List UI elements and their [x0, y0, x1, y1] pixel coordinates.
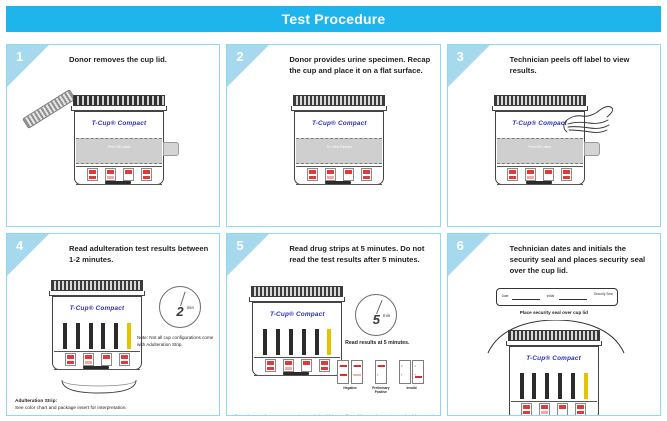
- cup-illustration-4: T-Cup® Compact: [47, 280, 149, 372]
- cup-body: T-Cup® Compact: [52, 296, 142, 370]
- cup-divider: [54, 369, 140, 370]
- peel-tab: [163, 142, 179, 156]
- drug-strip: [532, 373, 536, 399]
- drug-strips: [263, 329, 331, 355]
- test-strip: C T: [399, 360, 411, 384]
- drug-strips: [63, 323, 131, 349]
- pad: [141, 168, 152, 181]
- peel-off-label-text: Peel Off Label: [76, 145, 162, 150]
- step-panel-1: 1 Donor removes the cup lid. T-Cup® Comp…: [6, 44, 220, 227]
- corner-triangle-6: [448, 234, 490, 276]
- adulteration-footnote: Adulteration Strip: See color chart and …: [15, 398, 220, 413]
- step-text-4: Read adulteration test results between 1…: [69, 243, 211, 265]
- step-panel-6: 6 Technician dates and initials the secu…: [447, 233, 661, 416]
- cup-lid-icon: [508, 330, 600, 341]
- step-text-6: Technician dates and initials the securi…: [510, 243, 652, 276]
- drug-strips: [520, 373, 588, 399]
- seal-caption: Place security seal over cup lid: [448, 310, 660, 315]
- pad: [265, 359, 276, 372]
- drug-strip: [315, 329, 319, 355]
- cup-divider: [76, 166, 162, 167]
- pad: [561, 168, 572, 181]
- cup-lid-icon: [251, 286, 343, 297]
- pad: [319, 359, 330, 372]
- pad: [539, 403, 550, 416]
- pad: [105, 168, 116, 181]
- pad: [123, 168, 134, 181]
- cup-body: T-Cup® Compact: [509, 346, 599, 416]
- legend-item-preliminary-positive: C T Preliminary Positive: [368, 360, 394, 395]
- cup-divider: [54, 351, 140, 352]
- pad: [507, 168, 518, 181]
- adulteration-pads: [510, 403, 598, 416]
- cup-divider: [497, 184, 583, 185]
- hand-icon: [560, 99, 616, 143]
- control-line: [378, 365, 385, 367]
- control-mark: C: [414, 365, 416, 368]
- test-mark: T: [401, 374, 402, 377]
- corner-triangle-1: [7, 45, 49, 87]
- step-panel-2: 2 Donor provides urine specimen. Recap t…: [226, 44, 440, 227]
- step-art-6: Date Initial Security Seal Place securit…: [448, 274, 660, 415]
- cup-brand-label: T-Cup® Compact: [253, 311, 341, 318]
- corner-triangle-5: [227, 234, 269, 276]
- legend-strips: C T C T: [337, 360, 363, 384]
- pad: [283, 359, 294, 372]
- peel-off-label: Peel Off Label: [76, 138, 162, 164]
- adulteration-note: Note: Not all cup configurations come wi…: [137, 334, 215, 348]
- timer-icon-2min: 2 min: [159, 286, 201, 328]
- seal-initial-label: Initial: [547, 294, 554, 298]
- cup-divider: [254, 375, 340, 376]
- step-text-3: Technician peels off label to view resul…: [510, 54, 652, 76]
- seal-initial-line: [559, 299, 587, 300]
- control-line: [354, 365, 361, 367]
- cup-body: T-Cup® Compact: [252, 302, 342, 376]
- pad: [521, 403, 532, 416]
- control-line: [340, 365, 347, 367]
- pad: [101, 353, 112, 366]
- removed-cup-lid-icon: [22, 89, 76, 129]
- pad: [65, 353, 76, 366]
- peel-off-label-text: Peel Off Label: [497, 145, 583, 150]
- test-line: [354, 374, 361, 376]
- timer-value: 5: [355, 312, 397, 327]
- legend-strips: C T: [375, 360, 387, 384]
- drug-strip: [289, 329, 293, 355]
- peel-tab: [584, 142, 600, 156]
- cup-illustration-6: T-Cup® Compact: [504, 330, 606, 416]
- pad: [557, 403, 568, 416]
- test-line: [340, 374, 347, 376]
- adulteration-strip: [127, 323, 131, 349]
- steps-grid: 1 Donor removes the cup lid. T-Cup® Comp…: [6, 44, 661, 416]
- step-art-1: T-Cup® Compact Peel Off Label: [7, 85, 219, 226]
- cup-divider: [497, 166, 583, 167]
- timer-caption: Read results at 5 minutes.: [337, 340, 417, 348]
- drug-strip: [63, 323, 67, 349]
- seal-security-label: Security Seal: [594, 292, 613, 297]
- seal-date-line: [512, 299, 540, 300]
- step-panel-4: 4 Read adulteration test results between…: [6, 233, 220, 416]
- step-art-3: T-Cup® Compact Peel Off Label: [448, 85, 660, 226]
- legend-label: Invalid: [407, 386, 417, 390]
- step-art-4: T-Cup® Compact: [7, 274, 219, 415]
- timer-unit: min: [187, 305, 194, 310]
- cup-lid-icon: [51, 280, 143, 291]
- seal-date-label: Date: [502, 294, 509, 298]
- page-title: Test Procedure: [282, 11, 386, 27]
- cup-illustration-2: T-Cup® Compact To View Results: [289, 95, 391, 187]
- step-number-1: 1: [16, 49, 23, 64]
- drug-strip: [276, 329, 280, 355]
- pad: [325, 168, 336, 181]
- test-line: [415, 376, 422, 378]
- legend-label: Negative: [343, 386, 356, 390]
- legend-item-negative: C T C T Negati: [337, 360, 363, 390]
- step-number-2: 2: [236, 49, 243, 64]
- cup-lid-icon: [293, 95, 385, 106]
- legend-item-invalid: C T C T Invalid: [399, 360, 425, 390]
- timer-value: 2: [159, 304, 201, 319]
- drug-strip: [101, 323, 105, 349]
- drug-strip: [545, 373, 549, 399]
- step-number-6: 6: [457, 238, 464, 253]
- adulteration-footnote-body: See color chart and package insert for i…: [15, 406, 127, 411]
- pad: [525, 168, 536, 181]
- step-art-2: T-Cup® Compact To View Results: [227, 85, 439, 226]
- adulteration-footnote-title: Adulteration Strip:: [15, 399, 57, 404]
- cup-lid-icon: [73, 95, 165, 106]
- step-panel-5: 5 Read drug strips at 5 minutes. Do not …: [226, 233, 440, 416]
- corner-triangle-3: [448, 45, 490, 87]
- presumptive-footnote: All positive results are presumptive and…: [231, 414, 440, 416]
- pad: [87, 168, 98, 181]
- cup-illustration-5: T-Cup® Compact: [247, 286, 349, 378]
- pad: [543, 168, 554, 181]
- step-number-3: 3: [457, 49, 464, 64]
- drug-strip: [76, 323, 80, 349]
- cup-brand-label: T-Cup® Compact: [510, 355, 598, 362]
- cup-divider: [76, 184, 162, 185]
- drug-strip: [263, 329, 267, 355]
- step-text-1: Donor removes the cup lid.: [69, 54, 211, 65]
- drug-strip: [520, 373, 524, 399]
- pad: [83, 353, 94, 366]
- cup-body: T-Cup® Compact Peel Off Label: [74, 111, 164, 185]
- peel-off-label: To View Results: [296, 138, 382, 164]
- corner-triangle-4: [7, 234, 49, 276]
- step-art-5: T-Cup® Compact: [227, 274, 439, 415]
- pad: [307, 168, 318, 181]
- pad: [343, 168, 354, 181]
- test-procedure-page: Test Procedure 1 Donor removes the cup l…: [0, 0, 667, 421]
- pad: [361, 168, 372, 181]
- legend-label: Preliminary Positive: [368, 386, 394, 395]
- cup-divider: [296, 184, 382, 185]
- cup-illustration-1: T-Cup® Compact Peel Off Label: [69, 95, 171, 187]
- pad: [301, 359, 312, 372]
- test-strip: C T: [375, 360, 387, 384]
- drug-strip: [302, 329, 306, 355]
- step-text-2: Donor provides urine specimen. Recap the…: [289, 54, 431, 76]
- timer-icon-5min: 5 min: [355, 294, 397, 336]
- drug-strip: [114, 323, 118, 349]
- control-mark: C: [401, 365, 403, 368]
- timer-unit: min: [383, 313, 390, 318]
- peel-off-label-text: To View Results: [296, 145, 382, 150]
- cup-brand-label: T-Cup® Compact: [75, 120, 163, 127]
- test-strip: C T: [412, 360, 424, 384]
- page-header: Test Procedure: [6, 6, 661, 32]
- cup-brand-label: T-Cup® Compact: [53, 305, 141, 312]
- step-text-5: Read drug strips at 5 minutes. Do not re…: [289, 243, 431, 265]
- drug-strip: [558, 373, 562, 399]
- flat-cup-lid-icon: [59, 378, 139, 394]
- result-legend: C T C T Negati: [337, 360, 424, 395]
- cup-divider: [511, 401, 597, 402]
- pad: [575, 403, 586, 416]
- test-mark: T: [377, 374, 378, 377]
- cup-body: T-Cup® Compact To View Results: [294, 111, 384, 185]
- adulteration-strip: [327, 329, 331, 355]
- step-number-4: 4: [16, 238, 23, 253]
- pad: [119, 353, 130, 366]
- corner-triangle-2: [227, 45, 269, 87]
- security-seal: Date Initial Security Seal: [496, 288, 618, 306]
- cup-divider: [254, 357, 340, 358]
- cup-brand-label: T-Cup® Compact: [295, 120, 383, 127]
- step-panel-3: 3 Technician peels off label to view res…: [447, 44, 661, 227]
- drug-strip: [571, 373, 575, 399]
- adulteration-strip: [584, 373, 588, 399]
- step-number-5: 5: [236, 238, 243, 253]
- test-strip: C T: [337, 360, 349, 384]
- test-strip: C T: [351, 360, 363, 384]
- drug-strip: [89, 323, 93, 349]
- legend-strips: C T C T: [399, 360, 425, 384]
- cup-divider: [296, 166, 382, 167]
